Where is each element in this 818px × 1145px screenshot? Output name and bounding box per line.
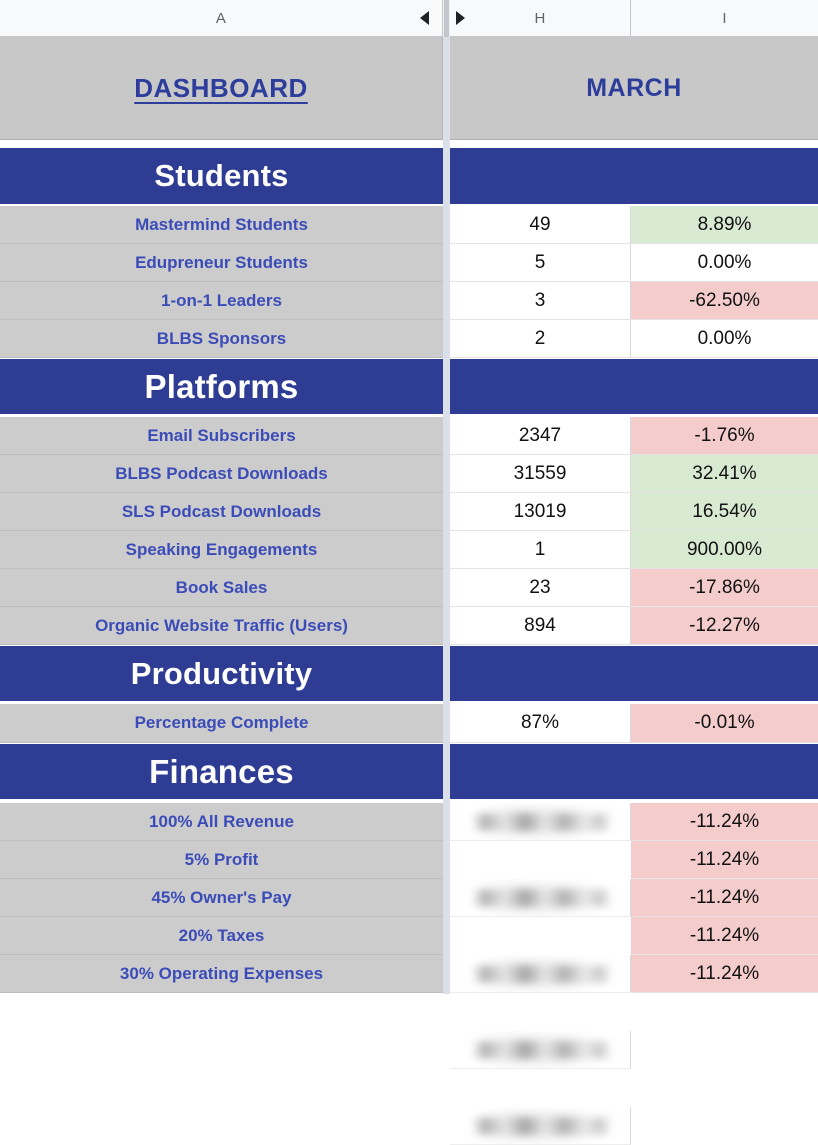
section-header-productivity-i: [631, 646, 818, 701]
row-value-text: 87%: [521, 712, 559, 734]
row-label[interactable]: 20% Taxes: [0, 917, 443, 955]
row-change[interactable]: 0.00%: [631, 244, 818, 282]
row-change[interactable]: 0.00%: [631, 320, 818, 358]
row-value[interactable]: 1: [450, 531, 631, 569]
row-change-text: -62.50%: [689, 290, 760, 312]
row-value-redacted[interactable]: [450, 1031, 631, 1069]
row-change-text: 900.00%: [687, 539, 762, 561]
column-header-i[interactable]: I: [631, 0, 818, 37]
dashboard-title-cell[interactable]: DASHBOARD: [0, 37, 443, 140]
row-value[interactable]: 87%: [450, 704, 631, 743]
month-title-cell[interactable]: MARCH: [450, 37, 818, 140]
row-change-text: 0.00%: [698, 252, 752, 274]
row-label-text: 30% Operating Expenses: [120, 964, 323, 984]
row-label[interactable]: 45% Owner's Pay: [0, 879, 443, 917]
row-change[interactable]: -11.24%: [631, 917, 818, 955]
section-header-students-h: [450, 148, 631, 204]
row-change-text: -11.24%: [690, 925, 759, 947]
row-label-text: Email Subscribers: [147, 426, 295, 446]
row-label[interactable]: BLBS Sponsors: [0, 320, 443, 358]
column-header-a[interactable]: A: [0, 0, 443, 37]
row-change[interactable]: -11.24%: [631, 879, 818, 917]
row-value[interactable]: 13019: [450, 493, 631, 531]
row-change-text: -11.24%: [690, 849, 759, 871]
row-value-redacted[interactable]: [450, 1107, 631, 1145]
column-header-i-label: I: [722, 10, 726, 27]
row-change-text: 32.41%: [692, 463, 756, 485]
row-value-text: 2347: [519, 425, 561, 447]
blur-overlay: [472, 889, 612, 906]
row-change[interactable]: 32.41%: [631, 455, 818, 493]
row-label-text: Speaking Engagements: [126, 540, 318, 560]
row-change-text: -11.24%: [690, 963, 759, 985]
row-change[interactable]: -1.76%: [631, 417, 818, 455]
section-header-platforms: Platforms: [0, 359, 443, 414]
frozen-pane-divider[interactable]: [443, 37, 450, 994]
row-value-text: 49: [529, 214, 550, 236]
row-change-text: 16.54%: [692, 501, 756, 523]
column-header-h-label: H: [534, 10, 545, 27]
row-change-text: 8.89%: [698, 214, 752, 236]
row-value-text: 3: [535, 290, 546, 312]
column-header-row: A H I: [0, 0, 818, 37]
section-header-finances-label: Finances: [149, 753, 294, 791]
row-label-text: 20% Taxes: [179, 926, 265, 946]
row-change-text: -11.24%: [690, 887, 759, 909]
row-change-text: -17.86%: [689, 577, 760, 599]
row-label-text: BLBS Sponsors: [157, 329, 286, 349]
row-label[interactable]: 5% Profit: [0, 841, 443, 879]
row-label-text: BLBS Podcast Downloads: [115, 464, 328, 484]
row-value[interactable]: 49: [450, 206, 631, 244]
row-value[interactable]: 31559: [450, 455, 631, 493]
section-header-students: Students: [0, 148, 443, 204]
row-label[interactable]: SLS Podcast Downloads: [0, 493, 443, 531]
row-value[interactable]: 5: [450, 244, 631, 282]
section-header-finances-i: [631, 744, 818, 799]
row-value-redacted[interactable]: [450, 879, 631, 917]
row-label[interactable]: Mastermind Students: [0, 206, 443, 244]
row-label-text: 100% All Revenue: [149, 812, 294, 832]
dashboard-title: DASHBOARD: [134, 73, 308, 104]
row-value[interactable]: 2: [450, 320, 631, 358]
row-label[interactable]: Email Subscribers: [0, 417, 443, 455]
row-label[interactable]: BLBS Podcast Downloads: [0, 455, 443, 493]
row-value-text: 5: [535, 252, 546, 274]
row-change[interactable]: 900.00%: [631, 531, 818, 569]
row-change[interactable]: 16.54%: [631, 493, 818, 531]
row-change[interactable]: -62.50%: [631, 282, 818, 320]
row-value-redacted[interactable]: [450, 803, 631, 841]
row-change[interactable]: -11.24%: [631, 803, 818, 841]
row-value[interactable]: 2347: [450, 417, 631, 455]
row-change[interactable]: -11.24%: [631, 955, 818, 993]
row-label-text: SLS Podcast Downloads: [122, 502, 321, 522]
row-change-text: -1.76%: [694, 425, 754, 447]
row-label-text: Mastermind Students: [135, 215, 308, 235]
row-value[interactable]: 23: [450, 569, 631, 607]
row-change[interactable]: -0.01%: [631, 704, 818, 743]
row-label-text: 45% Owner's Pay: [151, 888, 291, 908]
row-label[interactable]: 30% Operating Expenses: [0, 955, 443, 993]
blur-overlay: [472, 813, 612, 830]
triangle-left-icon[interactable]: [420, 11, 429, 25]
row-value-text: 2: [535, 328, 546, 350]
section-header-productivity: Productivity: [0, 646, 443, 701]
section-header-platforms-i: [631, 359, 818, 414]
row-label[interactable]: Percentage Complete: [0, 704, 443, 743]
month-title: MARCH: [586, 74, 682, 103]
row-value-redacted[interactable]: [450, 955, 631, 993]
triangle-right-icon[interactable]: [456, 11, 465, 25]
row-change[interactable]: -17.86%: [631, 569, 818, 607]
section-header-students-label: Students: [154, 158, 288, 194]
blur-overlay: [472, 1117, 612, 1134]
row-label[interactable]: Edupreneur Students: [0, 244, 443, 282]
row-label-text: 1-on-1 Leaders: [161, 291, 282, 311]
row-value-text: 894: [524, 615, 556, 637]
row-label-text: Edupreneur Students: [135, 253, 308, 273]
spreadsheet-dashboard: A H I DASHBOARD MARCH Students Mastermin…: [0, 0, 818, 994]
section-header-students-i: [631, 148, 818, 204]
row-label[interactable]: 100% All Revenue: [0, 803, 443, 841]
row-change-text: 0.00%: [698, 328, 752, 350]
row-label[interactable]: Organic Website Traffic (Users): [0, 607, 443, 645]
blur-overlay: [472, 965, 612, 982]
section-header-platforms-h: [450, 359, 631, 414]
section-header-finances: Finances: [0, 744, 443, 799]
row-change[interactable]: 8.89%: [631, 206, 818, 244]
section-header-finances-h: [450, 744, 631, 799]
row-label[interactable]: Speaking Engagements: [0, 531, 443, 569]
row-value[interactable]: 894: [450, 607, 631, 645]
section-header-productivity-h: [450, 646, 631, 701]
row-change[interactable]: -11.24%: [631, 841, 818, 879]
column-header-a-label: A: [216, 10, 226, 27]
row-value-text: 13019: [514, 501, 567, 523]
row-label-text: Book Sales: [176, 578, 268, 598]
column-header-h[interactable]: H: [450, 0, 631, 37]
section-header-productivity-label: Productivity: [131, 656, 313, 692]
frozen-pane-divider-header[interactable]: [443, 0, 450, 37]
row-value-text: 31559: [514, 463, 567, 485]
row-label-text: Percentage Complete: [135, 713, 309, 733]
row-label[interactable]: Book Sales: [0, 569, 443, 607]
row-change[interactable]: -12.27%: [631, 607, 818, 645]
row-label-text: Organic Website Traffic (Users): [95, 616, 348, 636]
row-value-text: 23: [529, 577, 550, 599]
row-change-text: -11.24%: [690, 811, 759, 833]
row-value[interactable]: 3: [450, 282, 631, 320]
row-label[interactable]: 1-on-1 Leaders: [0, 282, 443, 320]
row-change-text: -12.27%: [689, 615, 760, 637]
row-change-text: -0.01%: [694, 712, 754, 734]
section-header-platforms-label: Platforms: [144, 368, 298, 406]
blur-overlay: [472, 1041, 612, 1058]
row-label-text: 5% Profit: [185, 850, 259, 870]
row-value-text: 1: [535, 539, 546, 561]
